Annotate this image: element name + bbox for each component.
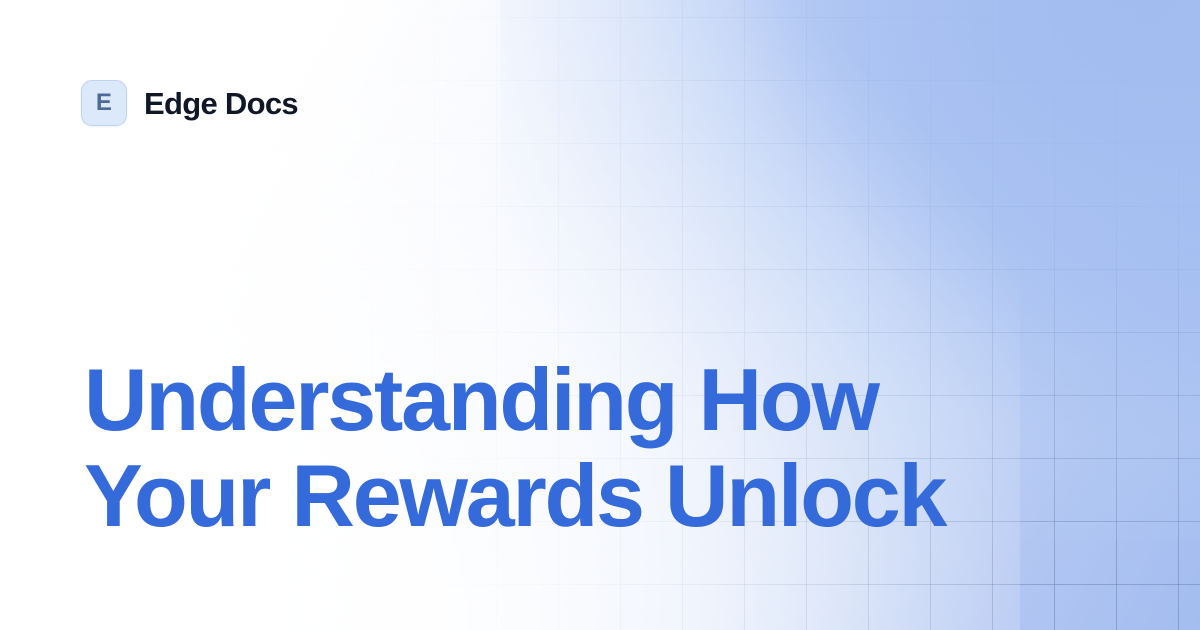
page-title: Understanding How Your Rewards Unlock	[84, 352, 1124, 544]
brand-logo-letter: E	[96, 91, 112, 115]
brand-lockup: E Edge Docs	[81, 80, 298, 126]
og-card: E Edge Docs Understanding How Your Rewar…	[0, 0, 1200, 630]
brand-name: Edge Docs	[144, 88, 298, 119]
brand-logo-badge: E	[81, 80, 127, 126]
